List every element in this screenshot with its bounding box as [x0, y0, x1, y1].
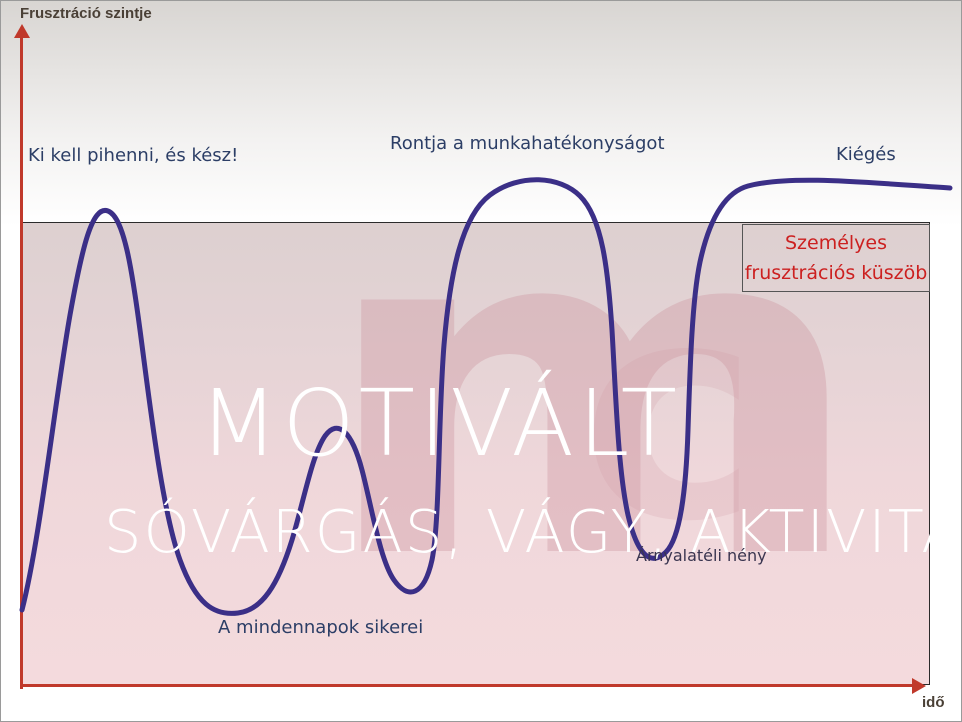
threshold-caption-line1: Személyes: [743, 228, 929, 258]
slide-canvas: m c Frusztráció szintje idő MOTIVÁLT SÓV…: [0, 0, 962, 722]
annotation-efficiency: Rontja a munkahatékonyságot: [390, 133, 665, 154]
annotation-daily-successes: A mindennapok sikerei: [218, 617, 423, 638]
x-axis-arrow-icon: [912, 678, 926, 694]
x-axis-label: idő: [922, 694, 945, 711]
annotation-rest: Ki kell pihenni, és kész!: [28, 145, 238, 166]
y-axis-line: [20, 34, 23, 689]
x-axis-line: [20, 684, 918, 687]
y-axis-arrow-icon: [14, 24, 30, 38]
headline-primary: MOTIVÁLT: [199, 370, 681, 477]
annotation-burnout: Kiégés: [836, 144, 896, 165]
background-gradient-wash: [0, 0, 962, 226]
threshold-caption-line2: frusztrációs küszöb: [743, 258, 929, 288]
y-axis-label: Frusztráció szintje: [20, 5, 152, 22]
headline-secondary: SÓVÁRGÁS, VÁGY, AKTIVITÁS: [104, 497, 962, 566]
threshold-caption-box: Személyes frusztrációs küszöb: [742, 224, 930, 292]
annotation-shadow: Árnyalatéli nény: [636, 546, 767, 565]
